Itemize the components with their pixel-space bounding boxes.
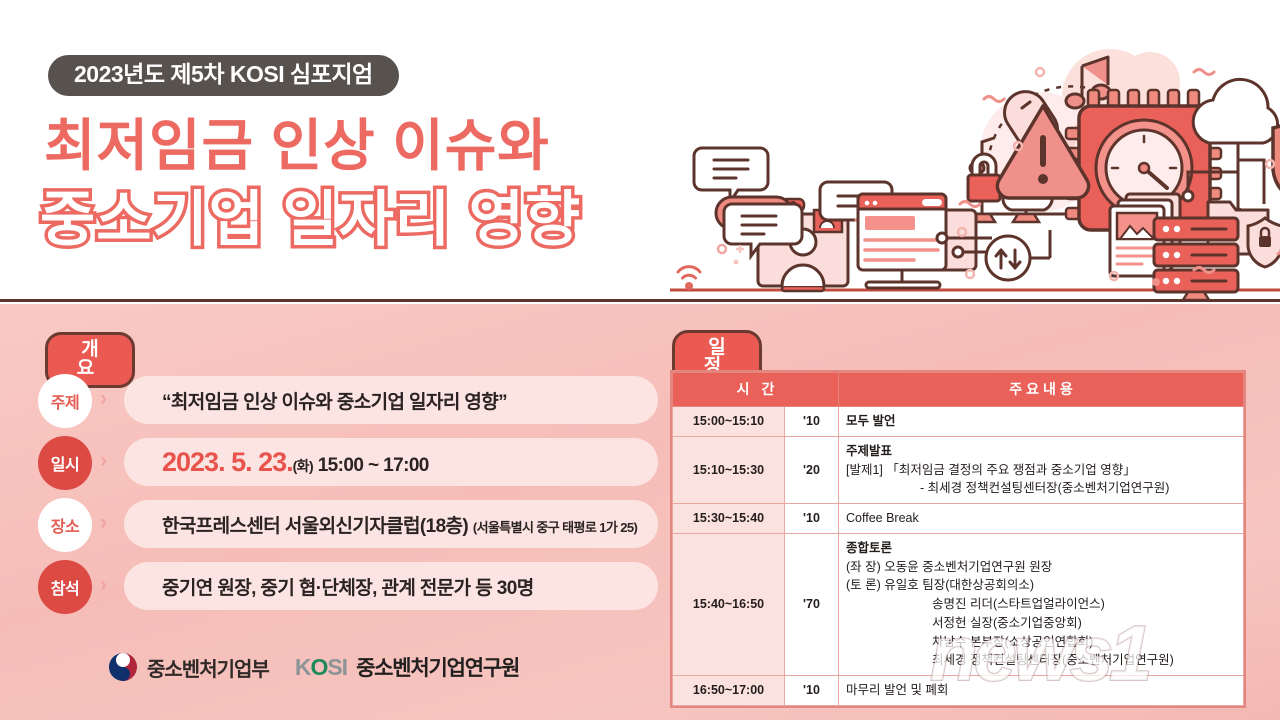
poster-title-line1: 최저임금 인상 이슈와 bbox=[44, 118, 550, 174]
row-title: 주제발표 bbox=[846, 442, 1236, 461]
info-value-attendees-bar: 중기연 원장, 중기 협·단체장, 관계 전문가 등 30명 bbox=[124, 562, 658, 610]
event-weekday: (화) bbox=[293, 458, 313, 474]
row-title: 모두 발언 bbox=[846, 414, 895, 428]
technology-illustration bbox=[670, 42, 1280, 300]
info-value-venue-bar: 한국프레스센터 서울외신기자클럽(18층) (서울특별시 중구 태평로 1가 2… bbox=[124, 500, 658, 548]
table-row: 15:00~15:10 '10 모두 발언 bbox=[673, 407, 1244, 437]
taegeuk-icon bbox=[108, 652, 138, 682]
kosi-letter-k: K bbox=[295, 654, 311, 680]
row-time: 16:50~17:00 bbox=[673, 676, 785, 706]
chevron-right-icon: › bbox=[100, 512, 107, 533]
info-value-subject-bar: “최저임금 인상 이슈와 중소기업 일자리 영향” bbox=[124, 376, 658, 424]
table-row: 15:10~15:30 '20 주제발표 [발제1] 「최저임금 결정의 주요 … bbox=[673, 436, 1244, 503]
info-value-attendees: 중기연 원장, 중기 협·단체장, 관계 전문가 등 30명 bbox=[162, 573, 534, 600]
poster-title-line2: 중소기업 일자리 영향 bbox=[40, 190, 581, 250]
footer-logos: 중소벤처기업부 KOSI 중소벤처기업연구원 bbox=[108, 652, 519, 682]
info-label-subject: 주제 bbox=[38, 374, 92, 428]
schedule-table-wrapper: 시 간 주요내용 15:00~15:10 '10 모두 발언 15:10~15:… bbox=[670, 370, 1246, 708]
row-title: 마무리 발언 및 폐회 bbox=[846, 683, 948, 697]
venue-name: 한국프레스센터 서울외신기자클럽(18층) bbox=[162, 516, 468, 537]
info-row-subject: 주제 › “최저임금 인상 이슈와 중소기업 일자리 영향” bbox=[38, 376, 658, 424]
speech-bubble-icon bbox=[694, 148, 768, 202]
browser-window-icon bbox=[858, 194, 976, 288]
row-content: Coffee Break bbox=[839, 504, 1244, 534]
wifi-icon bbox=[678, 267, 700, 290]
row-duration: '10 bbox=[785, 676, 839, 706]
row-detail-line: [발제1] 「최저임금 결정의 주요 쟁점과 중소기업 영향」 bbox=[846, 461, 1236, 480]
kosi-wordmark: KOSI bbox=[295, 654, 347, 681]
event-time: 15:00 ~ 17:00 bbox=[318, 455, 429, 476]
row-duration: '10 bbox=[785, 504, 839, 534]
row-detail-line: 차남수 본부장(소상공인연합회) bbox=[846, 633, 1236, 652]
chevron-right-icon: › bbox=[100, 388, 107, 409]
row-detail-line: 최세경 정책컨설팅센터장(중소벤처기업연구원) bbox=[846, 651, 1236, 670]
table-row: 16:50~17:00 '10 마무리 발언 및 폐회 bbox=[673, 676, 1244, 706]
row-detail-line: (좌 장) 오동윤 중소벤처기업연구원 원장 bbox=[846, 558, 1236, 577]
row-detail-line: 서정헌 실장(중소기업중앙회) bbox=[846, 614, 1236, 633]
row-duration: '10 bbox=[785, 407, 839, 437]
row-title: Coffee Break bbox=[846, 511, 919, 525]
info-value-subject: “최저임금 인상 이슈와 중소기업 일자리 영향” bbox=[162, 387, 507, 414]
row-content: 마무리 발언 및 폐회 bbox=[839, 676, 1244, 706]
info-row-datetime: 일시 › 2023. 5. 23.(화) 15:00 ~ 17:00 bbox=[38, 438, 658, 486]
symposium-kicker-badge: 2023년도 제5차 KOSI 심포지엄 bbox=[48, 55, 399, 96]
info-row-attendees: 참석 › 중기연 원장, 중기 협·단체장, 관계 전문가 등 30명 bbox=[38, 562, 658, 610]
kosi-letter-o: O bbox=[310, 654, 327, 680]
info-label-venue: 장소 bbox=[38, 498, 92, 552]
table-row: 15:30~15:40 '10 Coffee Break bbox=[673, 504, 1244, 534]
row-duration: '70 bbox=[785, 533, 839, 675]
schedule-body: 15:00~15:10 '10 모두 발언 15:10~15:30 '20 주제… bbox=[673, 407, 1244, 706]
row-content: 종합토론 (좌 장) 오동윤 중소벤처기업연구원 원장 (토 론) 유일호 팀장… bbox=[839, 533, 1244, 675]
kosi-institute-name: 중소벤처기업연구원 bbox=[356, 652, 519, 682]
row-title: 종합토론 bbox=[846, 539, 1236, 558]
chevron-right-icon: › bbox=[100, 574, 107, 595]
header-divider bbox=[0, 299, 1280, 302]
row-detail-line: - 최세경 정책컨설팅센터장(중소벤처기업연구원) bbox=[846, 479, 1236, 498]
schedule-header-row: 시 간 주요내용 bbox=[673, 373, 1244, 407]
row-time: 15:40~16:50 bbox=[673, 533, 785, 675]
server-rack-icon bbox=[1154, 218, 1238, 300]
row-content: 모두 발언 bbox=[839, 407, 1244, 437]
ministry-logo: 중소벤처기업부 bbox=[108, 652, 269, 682]
info-label-datetime: 일시 bbox=[38, 436, 92, 490]
row-detail-line: (토 론) 유일호 팀장(대한상공회의소) bbox=[846, 576, 1236, 595]
chevron-right-icon: › bbox=[100, 450, 107, 471]
row-duration: '20 bbox=[785, 436, 839, 503]
row-time: 15:30~15:40 bbox=[673, 504, 785, 534]
row-content: 주제발표 [발제1] 「최저임금 결정의 주요 쟁점과 중소기업 영향」 - 최… bbox=[839, 436, 1244, 503]
schedule-header-content: 주요내용 bbox=[839, 373, 1244, 407]
poster-body-band: 개요 일정 주제 › “최저임금 인상 이슈와 중소기업 일자리 영향” 일시 … bbox=[0, 304, 1280, 720]
ministry-name: 중소벤처기업부 bbox=[147, 653, 269, 682]
row-time: 15:00~15:10 bbox=[673, 407, 785, 437]
shield-icon bbox=[1273, 116, 1280, 202]
overview-info-list: 주제 › “최저임금 인상 이슈와 중소기업 일자리 영향” 일시 › 2023… bbox=[38, 376, 658, 624]
event-date: 2023. 5. 23. bbox=[162, 447, 293, 477]
kosi-logo: KOSI 중소벤처기업연구원 bbox=[295, 652, 519, 682]
venue-address: (서울특별시 중구 태평로 1가 25) bbox=[473, 520, 637, 535]
lock-icon bbox=[968, 154, 1000, 201]
transfer-arrows-icon bbox=[986, 230, 1050, 280]
kosi-letter-si: SI bbox=[327, 654, 347, 680]
row-detail-line: 송명진 리더(스타트업얼라이언스) bbox=[846, 595, 1236, 614]
info-row-venue: 장소 › 한국프레스센터 서울외신기자클럽(18층) (서울특별시 중구 태평로… bbox=[38, 500, 658, 548]
row-time: 15:10~15:30 bbox=[673, 436, 785, 503]
schedule-table: 시 간 주요내용 15:00~15:10 '10 모두 발언 15:10~15:… bbox=[672, 372, 1244, 706]
schedule-header-time: 시 간 bbox=[673, 373, 839, 407]
info-value-datetime-bar: 2023. 5. 23.(화) 15:00 ~ 17:00 bbox=[124, 438, 658, 486]
info-label-attendees: 참석 bbox=[38, 560, 92, 614]
poster-header-band: 2023년도 제5차 KOSI 심포지엄 최저임금 인상 이슈와 중소기업 일자… bbox=[0, 0, 1280, 302]
table-row: 15:40~16:50 '70 종합토론 (좌 장) 오동윤 중소벤처기업연구원… bbox=[673, 533, 1244, 675]
poster-root: 2023년도 제5차 KOSI 심포지엄 최저임금 인상 이슈와 중소기업 일자… bbox=[0, 0, 1280, 720]
dot-decoration bbox=[1152, 278, 1160, 286]
